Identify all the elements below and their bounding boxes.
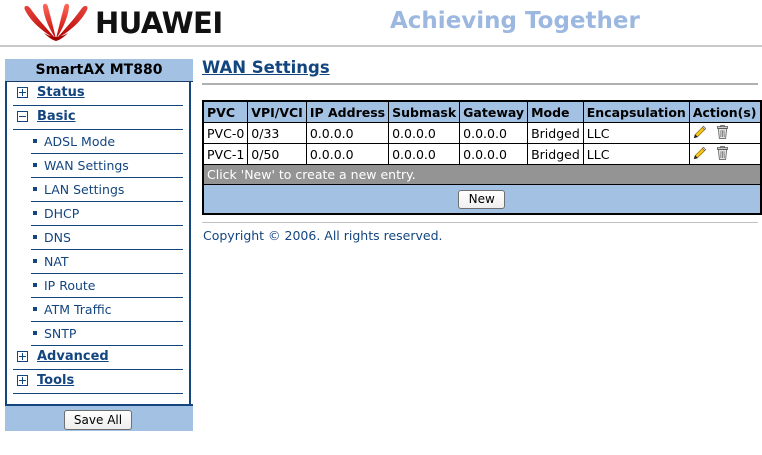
sidebar-item-adsl-mode[interactable]: ADSL Mode <box>31 130 183 154</box>
col-header-pvc: PVC <box>203 101 248 123</box>
page-root: HUAWEI Achieving Together SmartAX MT880 … <box>0 0 762 455</box>
sidebar-item-label[interactable]: WAN Settings <box>44 158 129 173</box>
cell-actions <box>689 123 760 144</box>
sidebar-group-status[interactable]: Status <box>13 82 183 106</box>
sidebar-item-label[interactable]: ATM Traffic <box>44 302 112 317</box>
cell-encapsulation: LLC <box>583 144 689 165</box>
sidebar-item-label[interactable]: DHCP <box>44 206 79 221</box>
table-row: PVC-0 0/33 0.0.0.0 0.0.0.0 0.0.0.0 Bridg… <box>203 123 761 144</box>
sidebar-item-label[interactable]: SNTP <box>44 326 76 341</box>
edit-pencil-icon[interactable] <box>693 125 707 142</box>
col-header-actions: Action(s) <box>689 101 760 123</box>
title-divider <box>202 83 758 85</box>
bullet-icon <box>33 235 37 239</box>
cell-ip-address: 0.0.0.0 <box>306 144 388 165</box>
delete-trash-icon[interactable] <box>716 146 729 163</box>
col-header-gateway: Gateway <box>460 101 528 123</box>
col-header-ip-address: IP Address <box>306 101 388 123</box>
plus-box-icon[interactable] <box>17 375 28 386</box>
sidebar-footer: Save All <box>5 404 193 431</box>
app-header: HUAWEI Achieving Together <box>0 0 762 45</box>
sidebar-group-label-tools[interactable]: Tools <box>37 373 74 388</box>
brand-slogan: Achieving Together <box>390 8 640 34</box>
bullet-icon <box>33 163 37 167</box>
sidebar-item-dns[interactable]: DNS <box>31 226 183 250</box>
bullet-icon <box>33 211 37 215</box>
table-header-row: PVC VPI/VCI IP Address Submask Gateway M… <box>203 101 761 123</box>
wan-settings-table: PVC VPI/VCI IP Address Submask Gateway M… <box>202 100 762 215</box>
table-action-row: New <box>203 185 761 215</box>
new-button-cell: New <box>203 185 761 215</box>
cell-gateway: 0.0.0.0 <box>460 123 528 144</box>
sidebar-group-basic[interactable]: Basic <box>13 106 183 130</box>
bullet-icon <box>33 187 37 191</box>
cell-mode: Bridged <box>528 123 584 144</box>
header-divider <box>0 45 762 47</box>
save-all-button[interactable]: Save All <box>64 410 132 430</box>
sidebar-group-label-basic[interactable]: Basic <box>37 109 76 124</box>
sidebar-item-label[interactable]: DNS <box>44 230 71 245</box>
cell-submask: 0.0.0.0 <box>389 123 460 144</box>
sidebar-item-atm-traffic[interactable]: ATM Traffic <box>31 298 183 322</box>
bullet-icon <box>33 331 37 335</box>
bullet-icon <box>33 259 37 263</box>
col-header-submask: Submask <box>389 101 460 123</box>
delete-trash-icon[interactable] <box>716 125 729 142</box>
cell-submask: 0.0.0.0 <box>389 144 460 165</box>
sidebar-item-nat[interactable]: NAT <box>31 250 183 274</box>
cell-vpi-vci: 0/33 <box>248 123 307 144</box>
sidebar-group-label-status[interactable]: Status <box>37 85 85 100</box>
minus-box-icon[interactable] <box>17 111 28 122</box>
sidebar: SmartAX MT880 Status Basic ADSL Mode WAN… <box>0 59 193 431</box>
sidebar-item-lan-settings[interactable]: LAN Settings <box>31 178 183 202</box>
table-hint-text: Click 'New' to create a new entry. <box>203 165 761 185</box>
table-hint-row: Click 'New' to create a new entry. <box>203 165 761 185</box>
plus-box-icon[interactable] <box>17 87 28 98</box>
huawei-flower-logo-icon <box>21 2 91 42</box>
sidebar-item-ip-route[interactable]: IP Route <box>31 274 183 298</box>
footer-divider <box>202 222 758 223</box>
col-header-mode: Mode <box>528 101 584 123</box>
new-button[interactable]: New <box>458 190 505 209</box>
sidebar-nav: Status Basic ADSL Mode WAN Settings LAN … <box>5 82 191 404</box>
sidebar-group-advanced[interactable]: Advanced <box>13 346 183 370</box>
cell-ip-address: 0.0.0.0 <box>306 123 388 144</box>
sidebar-item-label[interactable]: IP Route <box>44 278 95 293</box>
sidebar-group-label-advanced[interactable]: Advanced <box>37 349 109 364</box>
sidebar-item-dhcp[interactable]: DHCP <box>31 202 183 226</box>
page-title: WAN Settings <box>202 58 330 77</box>
cell-actions <box>689 144 760 165</box>
main-content: WAN Settings <box>202 58 758 77</box>
col-header-vpi-vci: VPI/VCI <box>248 101 307 123</box>
cell-gateway: 0.0.0.0 <box>460 144 528 165</box>
sidebar-item-label[interactable]: NAT <box>44 254 69 269</box>
bullet-icon <box>33 139 37 143</box>
bullet-icon <box>33 283 37 287</box>
sidebar-item-sntp[interactable]: SNTP <box>31 322 183 346</box>
bullet-icon <box>33 307 37 311</box>
cell-encapsulation: LLC <box>583 123 689 144</box>
edit-pencil-icon[interactable] <box>693 146 707 163</box>
brand-name: HUAWEI <box>95 6 223 40</box>
sidebar-group-tools[interactable]: Tools <box>13 370 183 394</box>
sidebar-item-label[interactable]: LAN Settings <box>44 182 124 197</box>
sidebar-item-wan-settings[interactable]: WAN Settings <box>31 154 183 178</box>
cell-pvc: PVC-0 <box>203 123 248 144</box>
sidebar-item-label[interactable]: ADSL Mode <box>44 134 115 149</box>
cell-mode: Bridged <box>528 144 584 165</box>
col-header-encapsulation: Encapsulation <box>583 101 689 123</box>
plus-box-icon[interactable] <box>17 351 28 362</box>
table-row: PVC-1 0/50 0.0.0.0 0.0.0.0 0.0.0.0 Bridg… <box>203 144 761 165</box>
copyright-text: Copyright © 2006. All rights reserved. <box>203 228 443 243</box>
sidebar-title: SmartAX MT880 <box>5 59 193 82</box>
cell-vpi-vci: 0/50 <box>248 144 307 165</box>
cell-pvc: PVC-1 <box>203 144 248 165</box>
